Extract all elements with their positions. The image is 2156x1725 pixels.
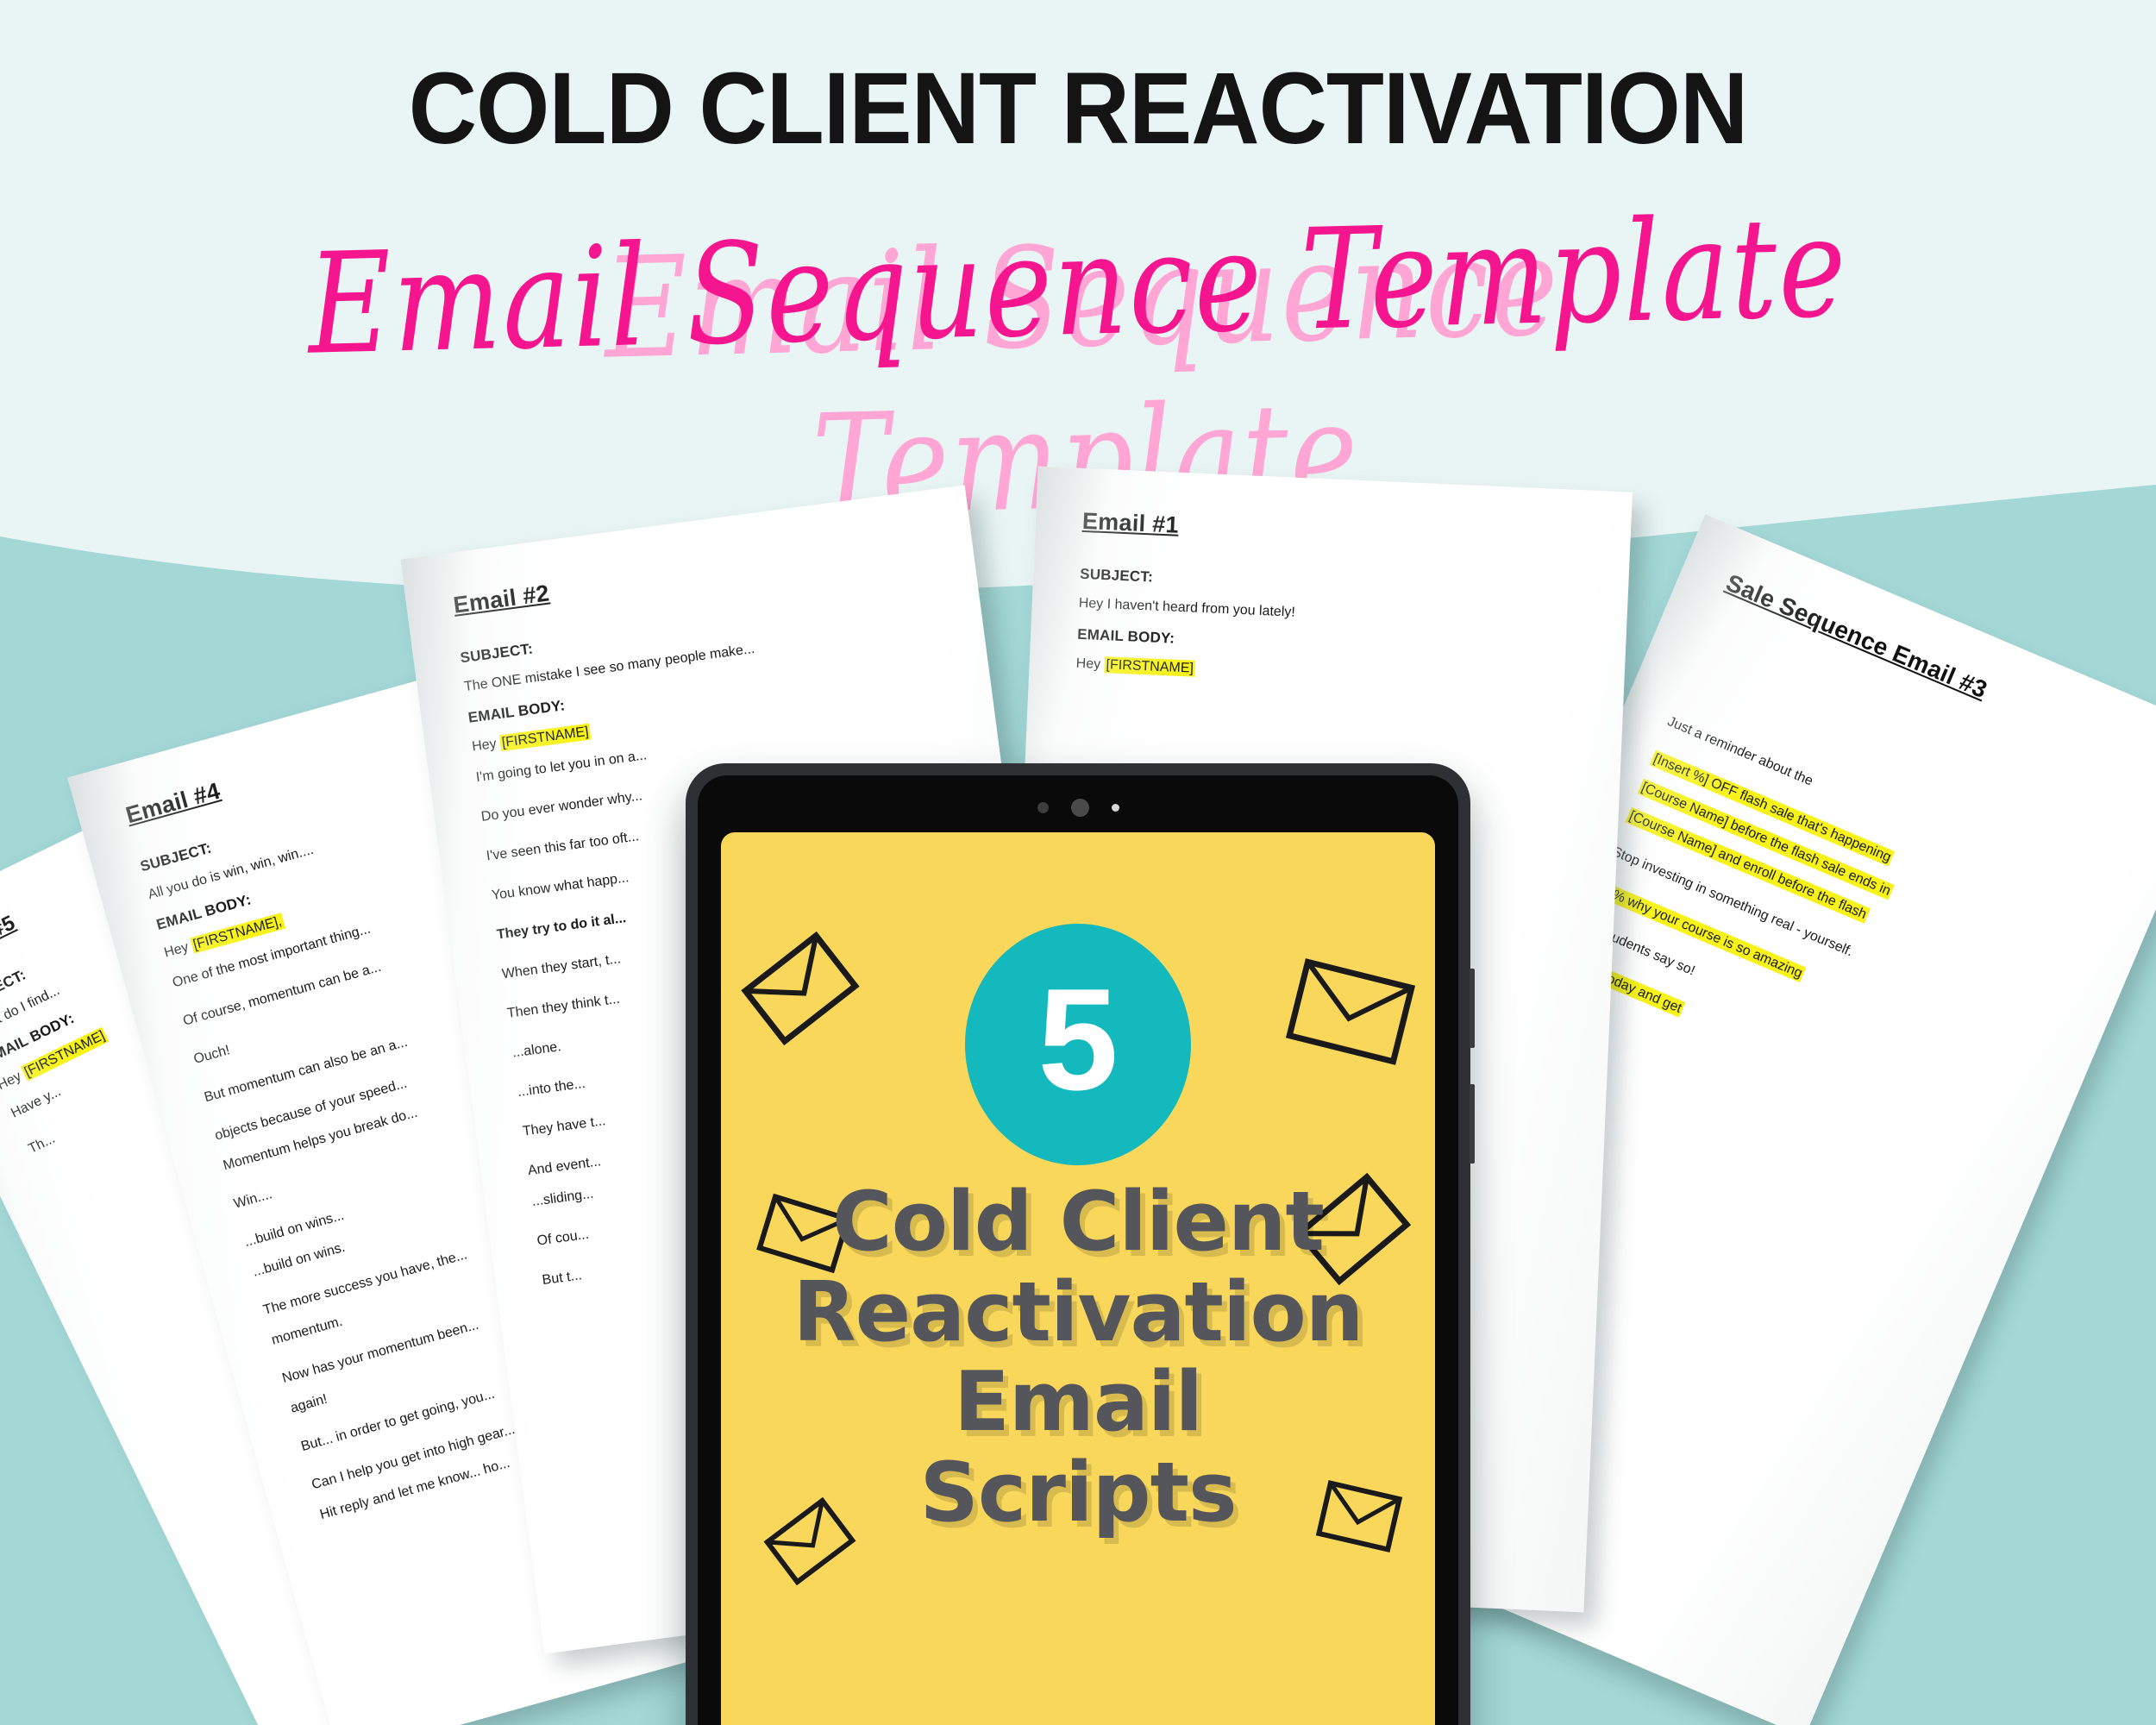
body-line: 60% why your course is so amazing: [1594, 880, 2039, 1082]
greeting-prefix: Hey: [1075, 656, 1105, 672]
device-title-line: Reactivation: [755, 1268, 1401, 1358]
page-title: COLD CLIENT REACTIVATION: [76, 50, 2081, 167]
greeting-prefix: Hey: [471, 736, 501, 754]
greeting-prefix: Hey: [163, 938, 194, 960]
tablet-bezel: 5: [698, 775, 1458, 1725]
camera-icon: [1071, 799, 1089, 817]
volume-up-button[interactable]: [1470, 969, 1475, 1048]
count-badge-number: 5: [1037, 967, 1118, 1112]
device-title-line: Scripts: [755, 1448, 1401, 1539]
document-heading: Email #1: [1081, 508, 1584, 556]
indicator-light-icon: [1112, 804, 1119, 812]
tablet-device[interactable]: 5: [686, 763, 1470, 1725]
device-title-line: Email: [755, 1358, 1401, 1448]
tablet-screen[interactable]: 5: [721, 832, 1435, 1725]
count-badge: 5: [965, 924, 1191, 1165]
volume-down-button[interactable]: [1470, 1084, 1475, 1164]
envelope-icon: [1285, 957, 1415, 1065]
envelope-icon: [741, 931, 861, 1046]
device-title: Cold Client Reactivation Email Scripts: [721, 1177, 1435, 1538]
camera-row: [698, 798, 1458, 817]
firstname-token: [FIRSTNAME]: [1104, 656, 1195, 677]
sensor-icon: [1037, 802, 1049, 813]
poster-stage: COLD CLIENT REACTIVATION Email Sequence …: [0, 0, 2156, 1725]
firstname-token: [FIRSTNAME]: [499, 724, 592, 752]
device-title-line: Cold Client: [755, 1177, 1401, 1268]
